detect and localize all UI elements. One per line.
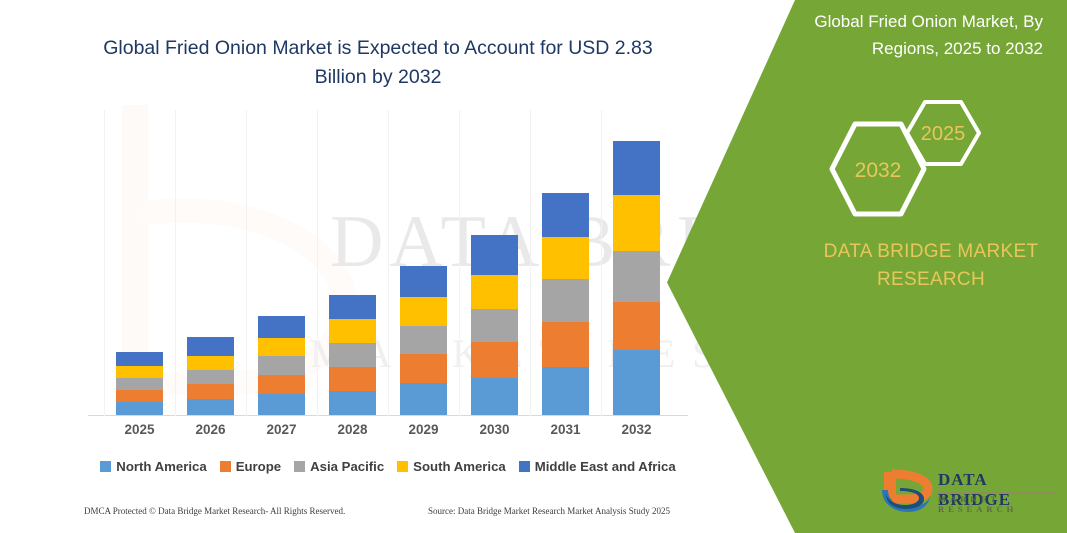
legend-label: South America [413,459,506,474]
bar-segment-north-america[interactable] [116,402,163,415]
bar-segment-south-america[interactable] [613,195,660,251]
bar-segment-asia-pacific[interactable] [471,309,518,342]
bar-segment-middle-east-and-africa[interactable] [116,352,163,366]
x-axis-label-2026: 2026 [181,422,241,437]
bar-segment-south-america[interactable] [400,297,447,326]
chart-plot-area [88,110,688,416]
bar-segment-north-america[interactable] [329,391,376,415]
bar-segment-asia-pacific[interactable] [400,326,447,354]
bar-2027[interactable] [258,316,305,415]
chart-panel: Global Fried Onion Market is Expected to… [0,0,760,533]
bar-segment-asia-pacific[interactable] [329,343,376,367]
bar-segment-middle-east-and-africa[interactable] [329,295,376,319]
legend-swatch-icon [294,461,305,472]
legend-label: Europe [236,459,281,474]
data-bridge-logo: DATA BRIDGE MARKET RESEARCH [878,468,1063,516]
hexagon-group: 2025 2032 [813,88,1003,218]
bar-segment-south-america[interactable] [471,275,518,309]
bar-2029[interactable] [400,266,447,415]
bar-segment-asia-pacific[interactable] [187,370,234,384]
data-bridge-mark-icon [878,468,934,514]
green-panel-title: Global Fried Onion Market, By Regions, 2… [775,8,1043,62]
legend-swatch-icon [100,461,111,472]
legend-label: Asia Pacific [310,459,384,474]
x-axis-label-2028: 2028 [323,422,383,437]
infographic-root: DATA BRIDGE MARKET RESEARCH Global Fried… [0,0,1067,533]
bar-segment-asia-pacific[interactable] [542,279,589,322]
bar-segment-middle-east-and-africa[interactable] [400,266,447,297]
bar-segment-middle-east-and-africa[interactable] [471,235,518,275]
bar-segment-asia-pacific[interactable] [116,378,163,390]
bar-2030[interactable] [471,235,518,415]
bar-segment-europe[interactable] [613,302,660,350]
brand-wordmark-line1: DATA BRIDGE MARKET [824,241,1039,262]
chart-title: Global Fried Onion Market is Expected to… [78,34,678,92]
chart-legend: North AmericaEuropeAsia PacificSouth Ame… [88,455,688,477]
footer-source: Source: Data Bridge Market Research Mark… [428,506,670,516]
legend-label: Middle East and Africa [535,459,676,474]
x-axis-label-2031: 2031 [536,422,596,437]
bar-2026[interactable] [187,337,234,415]
x-axis-label-2032: 2032 [607,422,667,437]
x-axis-label-2027: 2027 [252,422,312,437]
bar-segment-south-america[interactable] [116,366,163,378]
legend-item[interactable]: Middle East and Africa [519,459,676,474]
legend-swatch-icon [519,461,530,472]
grid-line [388,110,389,416]
hexagon-small-label: 2025 [921,123,966,145]
bar-segment-europe[interactable] [116,390,163,402]
grid-line [104,110,105,416]
brand-wordmark-line2: RESEARCH [877,269,985,290]
bar-segment-europe[interactable] [400,354,447,383]
brand-wordmark: DATA BRIDGE MARKET RESEARCH [800,238,1062,294]
bar-segment-north-america[interactable] [471,378,518,415]
hexagon-large-label: 2032 [855,159,902,182]
grid-line [175,110,176,416]
bar-segment-asia-pacific[interactable] [613,251,660,302]
x-axis-label-2030: 2030 [465,422,525,437]
grid-line [246,110,247,416]
legend-item[interactable]: North America [100,459,206,474]
bar-segment-middle-east-and-africa[interactable] [258,316,305,338]
bar-segment-europe[interactable] [258,375,305,394]
legend-item[interactable]: Europe [220,459,281,474]
x-axis-label-2029: 2029 [394,422,454,437]
bar-segment-north-america[interactable] [258,394,305,415]
legend-swatch-icon [220,461,231,472]
legend-label: North America [116,459,206,474]
bar-segment-middle-east-and-africa[interactable] [187,337,234,356]
grid-line [317,110,318,416]
grid-line [459,110,460,416]
bar-segment-europe[interactable] [471,342,518,378]
footer-copyright: DMCA Protected © Data Bridge Market Rese… [84,506,345,516]
grid-line [530,110,531,416]
bar-segment-south-america[interactable] [542,237,589,279]
bar-segment-north-america[interactable] [187,399,234,415]
legend-item[interactable]: South America [397,459,506,474]
bar-segment-middle-east-and-africa[interactable] [613,141,660,195]
bar-segment-south-america[interactable] [187,356,234,370]
logo-subtitle: MARKET RESEARCH [938,494,1063,514]
bar-segment-north-america[interactable] [542,367,589,415]
bar-2028[interactable] [329,295,376,415]
bar-segment-europe[interactable] [187,384,234,399]
bar-2032[interactable] [613,141,660,415]
bar-segment-north-america[interactable] [613,350,660,415]
bar-2025[interactable] [116,352,163,415]
x-axis-label-2025: 2025 [110,422,170,437]
grid-line [601,110,602,416]
bar-segment-europe[interactable] [329,367,376,391]
bar-segment-asia-pacific[interactable] [258,356,305,375]
legend-item[interactable]: Asia Pacific [294,459,384,474]
bar-segment-middle-east-and-africa[interactable] [542,193,589,237]
bar-segment-europe[interactable] [542,322,589,367]
bar-segment-south-america[interactable] [329,319,376,343]
footer: DMCA Protected © Data Bridge Market Rese… [0,506,760,528]
bar-2031[interactable] [542,193,589,415]
bar-segment-south-america[interactable] [258,338,305,356]
x-axis-labels: 20252026202720282029203020312032 [88,422,688,444]
legend-swatch-icon [397,461,408,472]
bar-segment-north-america[interactable] [400,383,447,415]
